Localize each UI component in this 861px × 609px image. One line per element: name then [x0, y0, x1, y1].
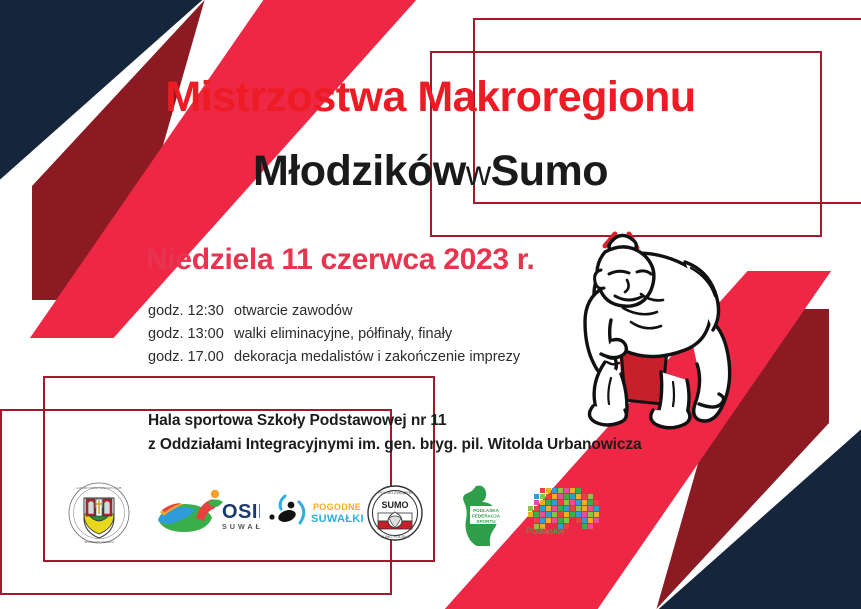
schedule-time: godz. 12:30	[148, 300, 234, 323]
logo-pogodne-suwalki: POGODNE SUWAŁKI	[265, 480, 363, 546]
venue-line-2: z Oddziałami Integracyjnymi im. gen. bry…	[148, 433, 642, 457]
poster-content: Mistrzostwa Makroregionu MłodzikówwSumo …	[0, 0, 861, 609]
svg-text:LUDOWY MIĘDZYSZKOLNY KLUB: LUDOWY MIĘDZYSZKOLNY KLUB	[77, 486, 122, 490]
title-word-mlodzikow: Młodzików	[253, 147, 466, 195]
logo-podlaskie-region: Podlaskie	[522, 480, 618, 546]
svg-text:SPORTU: SPORTU	[476, 519, 496, 524]
svg-text:SUMO POLSKA: SUMO POLSKA	[380, 534, 409, 539]
sponsor-logo-strip: LUDOWY MIĘDZYSZKOLNY KLUB SPORTOWY SUWAŁ…	[60, 480, 620, 550]
svg-text:POLSKI ZWIĄZEK: POLSKI ZWIĄZEK	[378, 490, 412, 495]
poster-canvas: Mistrzostwa Makroregionu MłodzikówwSumo …	[0, 0, 861, 609]
schedule-description: dekoracja medalistów i zakończenie impre…	[234, 346, 520, 369]
logo-osir-suwalki: OSIR SUWAŁKI	[152, 480, 260, 546]
schedule-time: godz. 17.00	[148, 346, 234, 369]
schedule-list: godz. 12:30 otwarcie zawodów godz. 13:00…	[148, 300, 520, 369]
event-date: Niedziela 11 czerwca 2023 r.	[146, 243, 535, 277]
logo-podlaska-federacja-sportu: PODLASKA FEDERACJA SPORTU	[450, 480, 518, 546]
title-word-sumo: Sumo	[491, 147, 608, 195]
svg-text:FEDERACJA: FEDERACJA	[472, 514, 501, 519]
schedule-description: otwarcie zawodów	[234, 300, 520, 323]
schedule-row: godz. 17.00 dekoracja medalistów i zakoń…	[148, 346, 520, 369]
page-title-line-2: MłodzikówwSumo	[0, 150, 861, 193]
svg-text:POGODNE: POGODNE	[313, 502, 361, 512]
svg-text:SUWAŁKI: SUWAŁKI	[222, 522, 260, 531]
schedule-row: godz. 12:30 otwarcie zawodów	[148, 300, 520, 323]
logo-sumo-federation-seal: POLSKI ZWIĄZEK SUMO POLSKA SUMO	[358, 480, 432, 546]
logo-suwalki-coat-of-arms: LUDOWY MIĘDZYSZKOLNY KLUB SPORTOWY SUWAŁ…	[60, 480, 138, 546]
title-word-w: w	[466, 154, 491, 193]
svg-text:SUWAŁKI: SUWAŁKI	[311, 513, 363, 525]
svg-text:Podlaskie: Podlaskie	[526, 526, 565, 536]
schedule-description: walki eliminacyjne, półfinały, finały	[234, 323, 520, 346]
svg-text:SPORTOWY SUWAŁKI: SPORTOWY SUWAŁKI	[84, 540, 114, 544]
schedule-time: godz. 13:00	[148, 323, 234, 346]
svg-text:OSIR: OSIR	[222, 501, 260, 523]
svg-text:PODLASKA: PODLASKA	[473, 508, 499, 513]
sumo-wrestler-illustration	[545, 222, 781, 432]
schedule-row: godz. 13:00 walki eliminacyjne, półfinał…	[148, 323, 520, 346]
svg-text:SUMO: SUMO	[382, 500, 409, 510]
page-title-line-1: Mistrzostwa Makroregionu	[0, 76, 861, 119]
